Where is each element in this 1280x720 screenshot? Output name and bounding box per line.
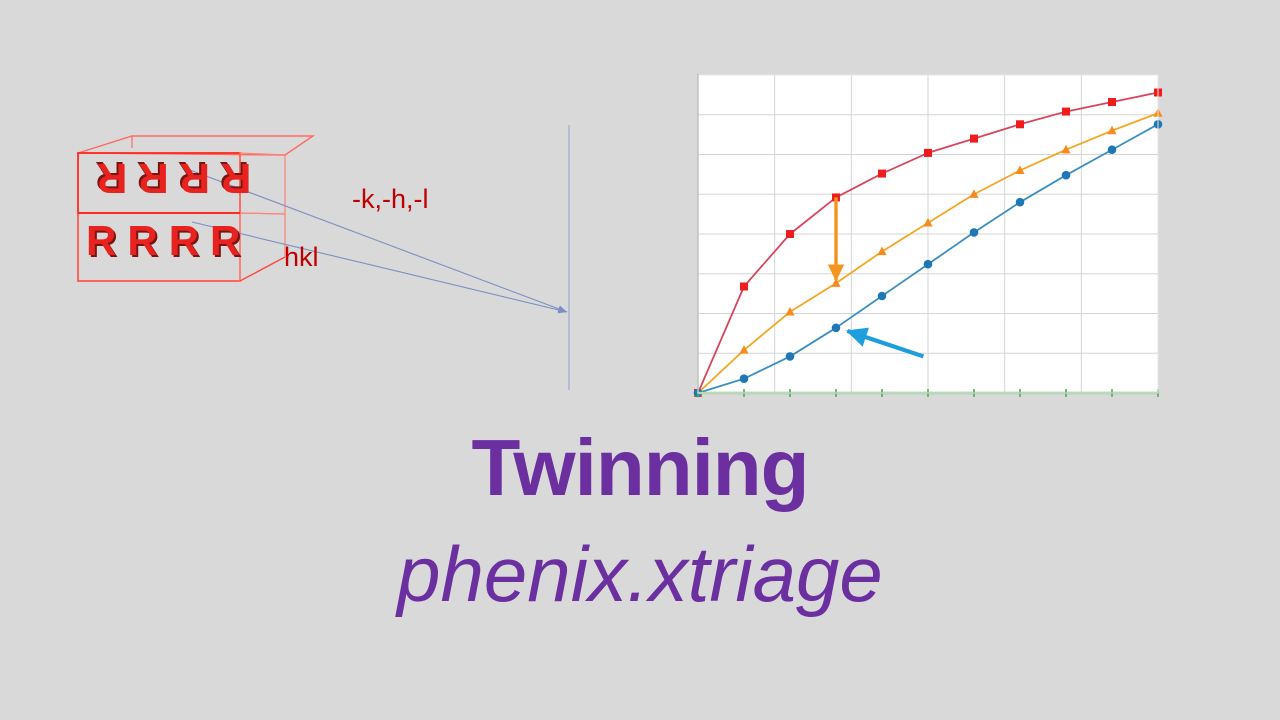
chart-marker — [1062, 108, 1070, 116]
lattice-letter: R — [169, 220, 201, 262]
chart-marker — [970, 228, 979, 237]
page-subtitle: phenix.xtriage — [0, 535, 1280, 613]
lattice-letter: R — [178, 157, 210, 199]
lattice-letters-upright: R R R R — [86, 220, 251, 262]
chart-marker — [832, 324, 841, 333]
label-hkl: hkl — [284, 244, 319, 271]
lattice-letter: R — [136, 157, 168, 199]
chart-marker — [1016, 120, 1024, 128]
chart-marker — [740, 374, 749, 383]
lattice-letter: R — [95, 157, 127, 199]
chart-annotation-blue-pointer-arrow — [848, 331, 924, 356]
slide-canvas: R R R R R R R R hkl -k,-h,-l Twinning ph… — [0, 0, 1280, 720]
chart-marker — [1016, 198, 1025, 207]
chart-marker — [923, 218, 932, 227]
lattice-letter: R — [210, 220, 242, 262]
lattice-letter: R — [86, 220, 118, 262]
chart-svg — [691, 68, 1167, 400]
chart-marker — [878, 292, 887, 301]
chart-gridlines — [698, 75, 1158, 393]
label-neg-k-neg-h-neg-l: -k,-h,-l — [352, 186, 429, 213]
chart-marker — [786, 230, 794, 238]
chart-marker — [740, 282, 748, 290]
lattice-letters-inverted: R R R R — [86, 157, 251, 199]
twin-lattice-diagram: R R R R R R R R hkl -k,-h,-l — [60, 125, 580, 415]
chart-marker — [878, 170, 886, 178]
lattice-letter: R — [219, 157, 251, 199]
chart-marker — [786, 352, 795, 361]
chart-marker — [1108, 145, 1117, 154]
page-title: Twinning — [0, 428, 1280, 508]
chart-marker — [1108, 98, 1116, 106]
chart-marker — [785, 307, 794, 316]
chart-marker — [1062, 171, 1071, 180]
chart-marker — [970, 135, 978, 143]
chart-marker — [924, 149, 932, 157]
chart-marker — [877, 246, 886, 255]
twinning-intensity-chart — [691, 68, 1167, 400]
chart-marker — [924, 260, 933, 269]
lattice-letter: R — [127, 220, 159, 262]
